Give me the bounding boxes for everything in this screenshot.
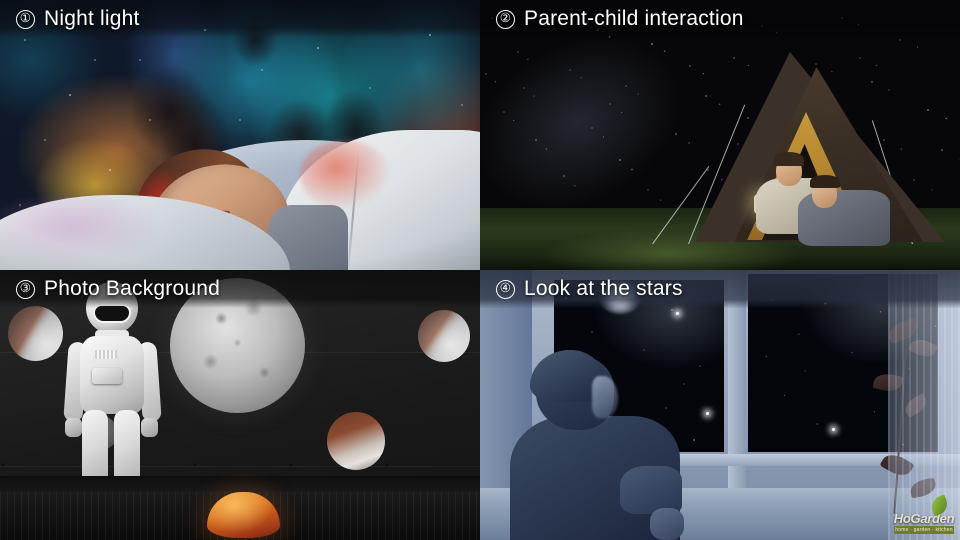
panel-number-badge: ④: [496, 280, 515, 299]
bright-star: [676, 312, 679, 315]
wall-baseboard: [0, 476, 480, 492]
child-hair: [810, 175, 840, 188]
moon-phase-blood: [327, 412, 385, 470]
panel-look-at-the-stars[interactable]: ④ Look at the stars HoGarden home · gard…: [480, 270, 960, 540]
panel-caption: ① Night light: [0, 0, 480, 38]
watermark-logo: HoGarden: [894, 507, 954, 525]
parent-hair: [774, 152, 804, 166]
astronaut-chest-pack: [92, 368, 122, 384]
bright-star: [832, 428, 835, 431]
panel-title: Night light: [44, 7, 140, 31]
panel-caption: ④ Look at the stars: [480, 270, 960, 308]
panel-parent-child-interaction[interactable]: ② Parent-child interaction: [480, 0, 960, 270]
boy-hand: [650, 508, 684, 540]
scenario-collage: ① Night light ② Parent-child interaction: [0, 0, 960, 540]
panel-title: Parent-child interaction: [524, 7, 744, 31]
boy-figure: [508, 340, 698, 540]
watermark-brand-name: HoGarden: [894, 512, 954, 525]
panel-photo-background[interactable]: ③ Photo Background: [0, 270, 480, 540]
panel-night-light[interactable]: ① Night light: [0, 0, 480, 270]
panel-caption: ② Parent-child interaction: [480, 0, 960, 38]
astronaut-patch: [95, 350, 117, 359]
moon-phase-left: [8, 306, 63, 361]
panel-title: Look at the stars: [524, 277, 683, 301]
panel-title: Photo Background: [44, 277, 220, 301]
vignette: [0, 0, 480, 270]
panel-caption: ③ Photo Background: [0, 270, 480, 308]
bright-star: [706, 412, 709, 415]
astronaut-glove-right: [141, 418, 158, 437]
brand-watermark: HoGarden home · garden · kitchen: [892, 507, 956, 534]
moon-phase-right: [418, 310, 470, 362]
panel-number-badge: ②: [496, 10, 515, 29]
boy-face-highlight: [592, 376, 618, 418]
window-curtain: [888, 270, 960, 540]
watermark-tagline: home · garden · kitchen: [894, 526, 954, 534]
panel-number-badge: ③: [16, 280, 35, 299]
panel-number-badge: ①: [16, 10, 35, 29]
astronaut-glove-left: [65, 418, 82, 437]
boy-sleeve: [620, 466, 682, 514]
